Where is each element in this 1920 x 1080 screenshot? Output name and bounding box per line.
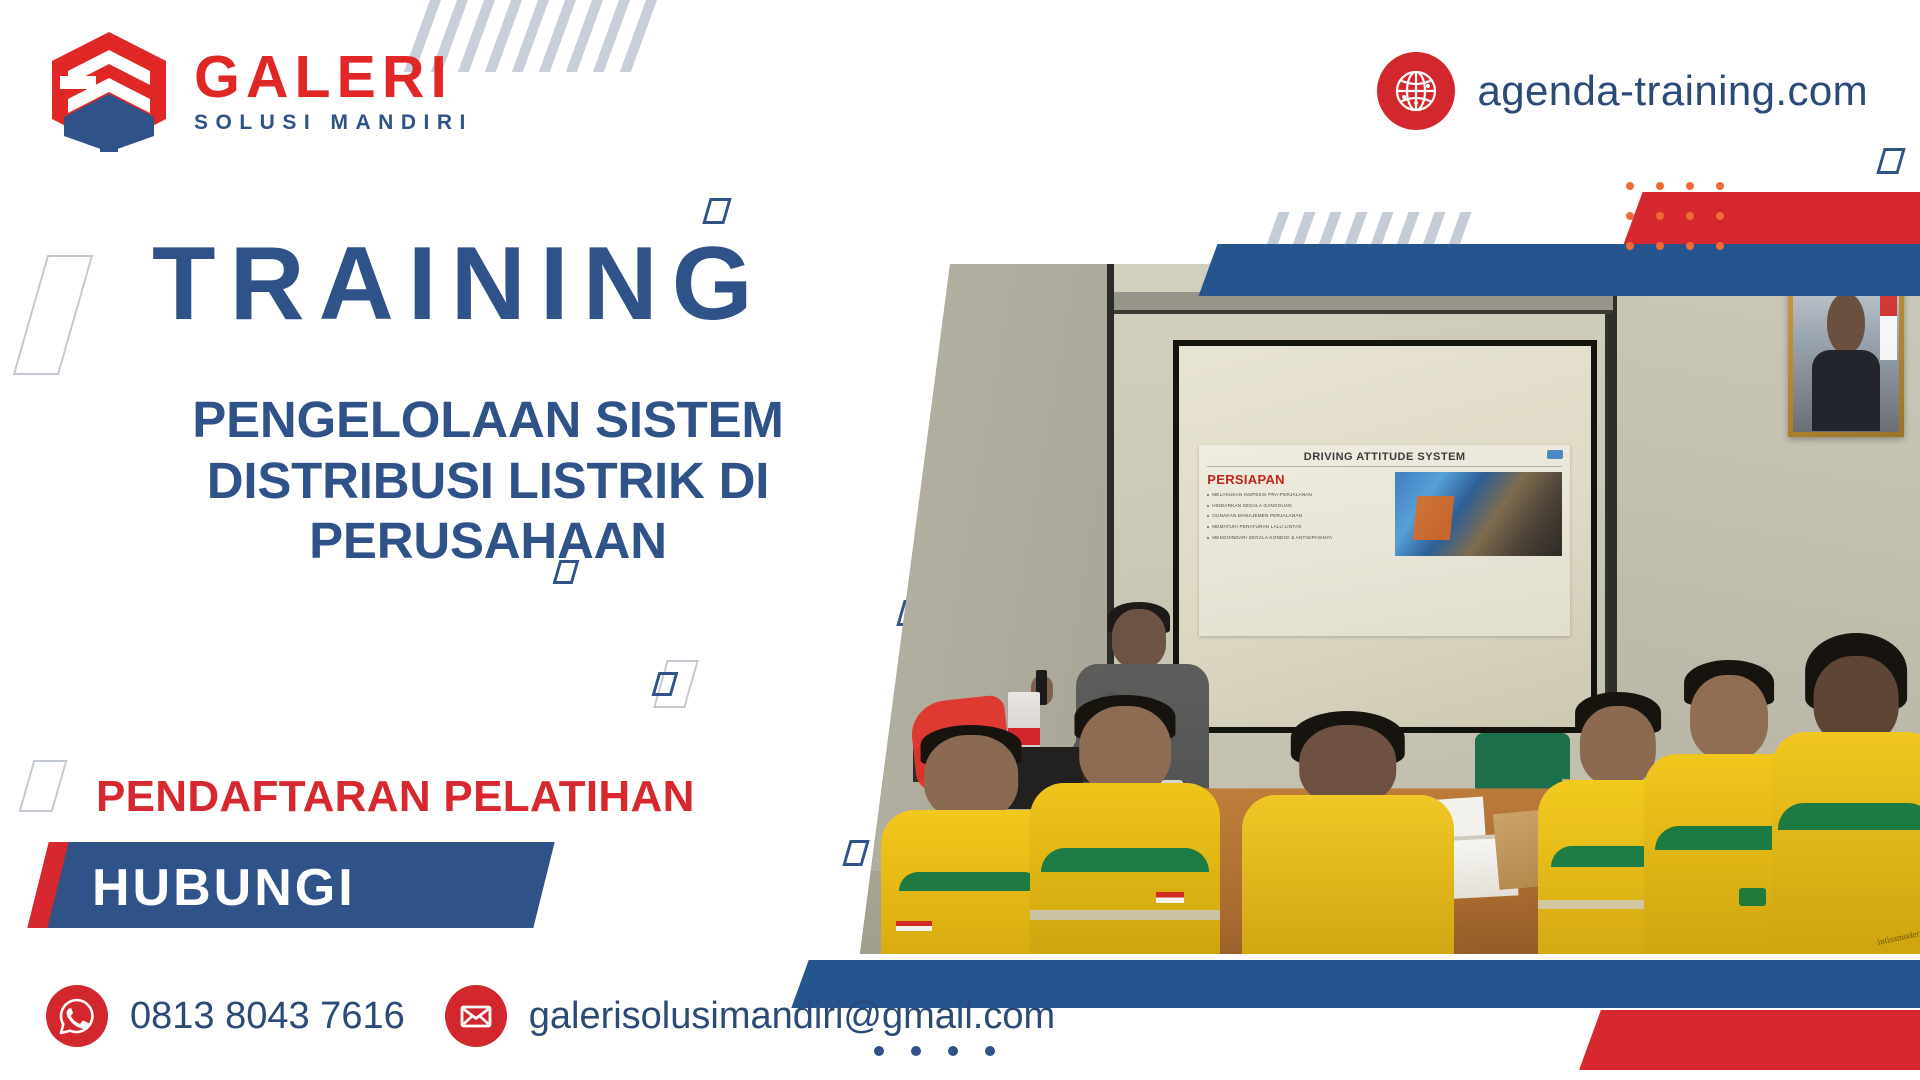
parallelogram-outline-navy-right [1876, 148, 1905, 174]
slide-bullet: MEMATUHI PERATURAN LALU LINTAS [1207, 524, 1389, 530]
website-url-text: agenda-training.com [1477, 67, 1868, 115]
brand-logo[interactable]: GALERI SOLUSI MANDIRI [46, 28, 473, 152]
subtitle-line-2: DISTRIBUSI LISTRIK DI [118, 451, 858, 512]
parallelogram-outline-navy-photo-2 [842, 840, 869, 866]
slide-bullet: MELAKUKAN INSPEKSI PRA-PERJALANAN [1207, 492, 1389, 498]
contact-banner-label: HUBUNGI : [92, 858, 356, 978]
parallelogram-outline-left-upper [13, 255, 93, 375]
training-poster: DRIVING ATTITUDE SYSTEM PERSIAPAN MELAKU… [0, 0, 1920, 1080]
training-session-photo: DRIVING ATTITUDE SYSTEM PERSIAPAN MELAKU… [860, 264, 1920, 954]
page-subtitle: PENGELOLAAN SISTEM DISTRIBUSI LISTRIK DI… [118, 390, 858, 572]
blue-bar-top [1199, 244, 1920, 296]
photo-watermark: intisamudera.co [1877, 925, 1920, 947]
subtitle-line-3: PERUSAHAAN [118, 511, 858, 572]
contact-phone[interactable]: 0813 8043 7616 [46, 985, 405, 1047]
globe-icon [1377, 52, 1455, 130]
participant [1242, 706, 1454, 954]
phone-number-text: 0813 8043 7616 [130, 995, 405, 1038]
logo-sub-text: SOLUSI MANDIRI [194, 112, 473, 133]
page-title: TRAINING [152, 232, 767, 336]
slide-bullet: GUNAKAN MANAJEMEN PERJALANAN [1207, 513, 1389, 519]
contact-email[interactable]: galerisolusimandiri@gmail.com [445, 985, 1055, 1047]
parallelogram-outline-navy-top [702, 198, 731, 224]
contact-list: 0813 8043 7616 galerisolusimandiri@gmail… [46, 985, 1055, 1047]
slide-title: DRIVING ATTITUDE SYSTEM [1207, 451, 1562, 467]
whatsapp-icon [46, 985, 108, 1047]
logo-main-text: GALERI [194, 48, 473, 107]
slide-bullet: MENGHINDARI SEGALA KONDISI & ANTISIPASIN… [1207, 535, 1389, 541]
navy-dot-row-decoration [874, 1046, 995, 1056]
slide-section-label: PERSIAPAN [1207, 472, 1389, 487]
website-link[interactable]: agenda-training.com [1377, 52, 1868, 130]
projector-screen: DRIVING ATTITUDE SYSTEM PERSIAPAN MELAKU… [1173, 340, 1597, 733]
galeri-hexagon-logo-icon [46, 28, 172, 152]
participant [1030, 678, 1221, 954]
slide-bullet: HINDARKAN SEGALA GANGGUAN [1207, 503, 1389, 509]
email-address-text: galerisolusimandiri@gmail.com [529, 995, 1055, 1038]
presentation-slide: DRIVING ATTITUDE SYSTEM PERSIAPAN MELAKU… [1199, 445, 1570, 636]
participant: intisamudera.co [1772, 637, 1920, 954]
red-accent-bottom-right [1579, 1010, 1920, 1070]
orange-dot-grid-decoration [1626, 182, 1746, 272]
registration-label: PENDAFTARAN PELATIHAN [96, 772, 695, 822]
parallelogram-outline-left-lower [19, 760, 68, 812]
subtitle-line-1: PENGELOLAAN SISTEM [118, 390, 858, 451]
envelope-icon [445, 985, 507, 1047]
